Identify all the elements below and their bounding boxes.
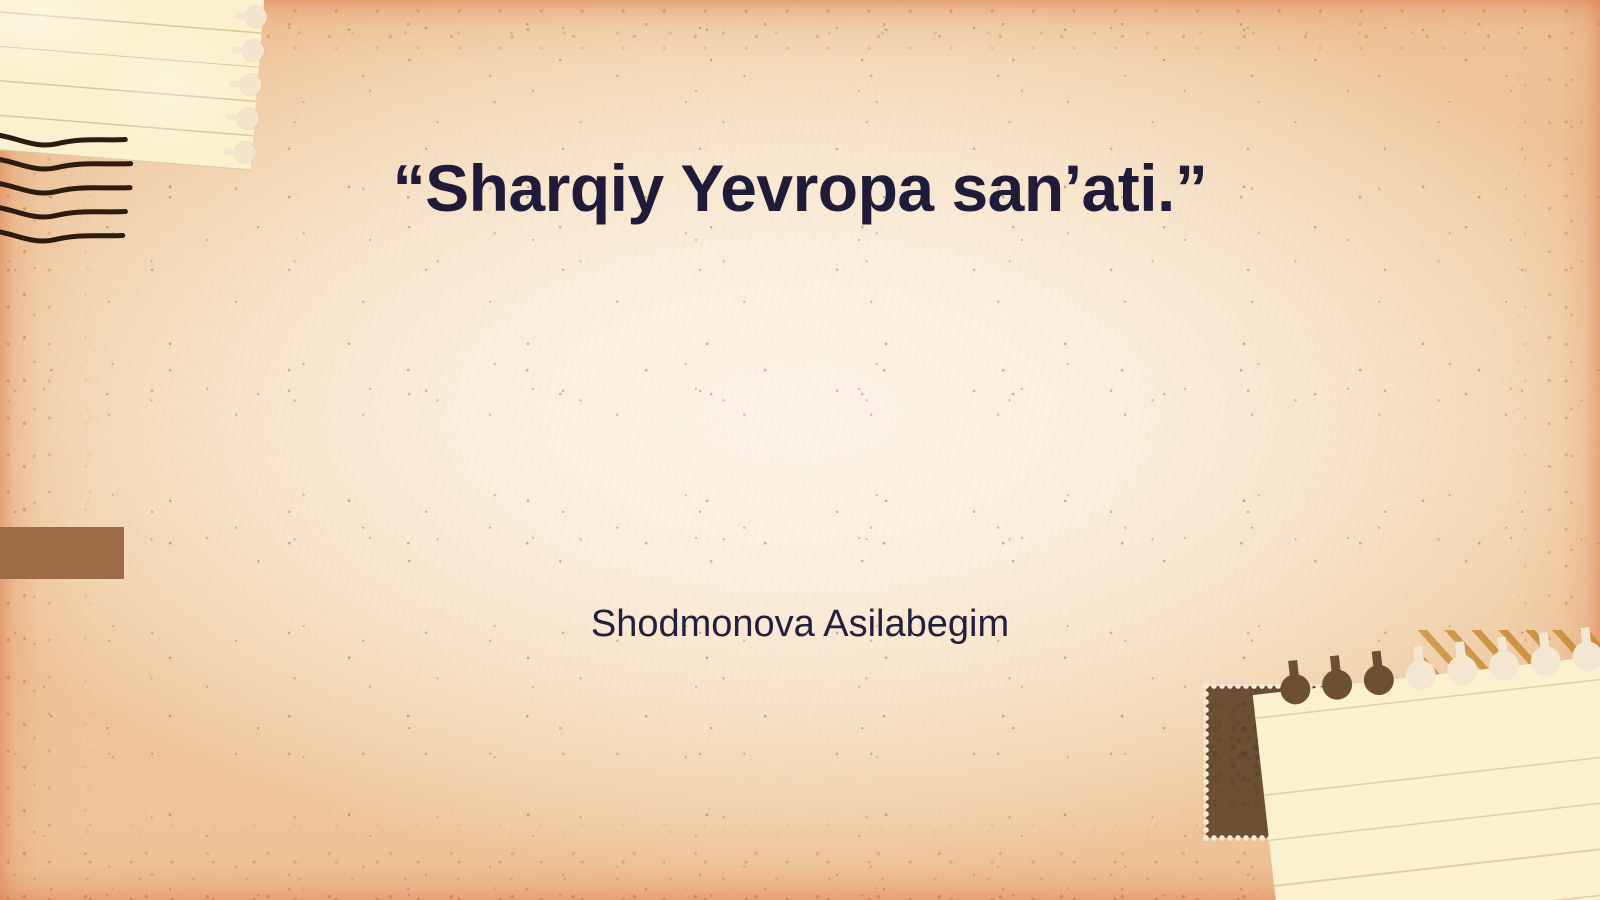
presentation-slide: “Sharqiy Yevropa san’ati.” Shodmonova As… bbox=[0, 0, 1600, 900]
note-paper-bottom-right bbox=[1253, 651, 1600, 900]
slide-title: “Sharqiy Yevropa san’ati.” bbox=[0, 152, 1600, 225]
slide-subtitle-author: Shodmonova Asilabegim bbox=[0, 602, 1600, 648]
brown-accent-bar bbox=[0, 527, 124, 579]
